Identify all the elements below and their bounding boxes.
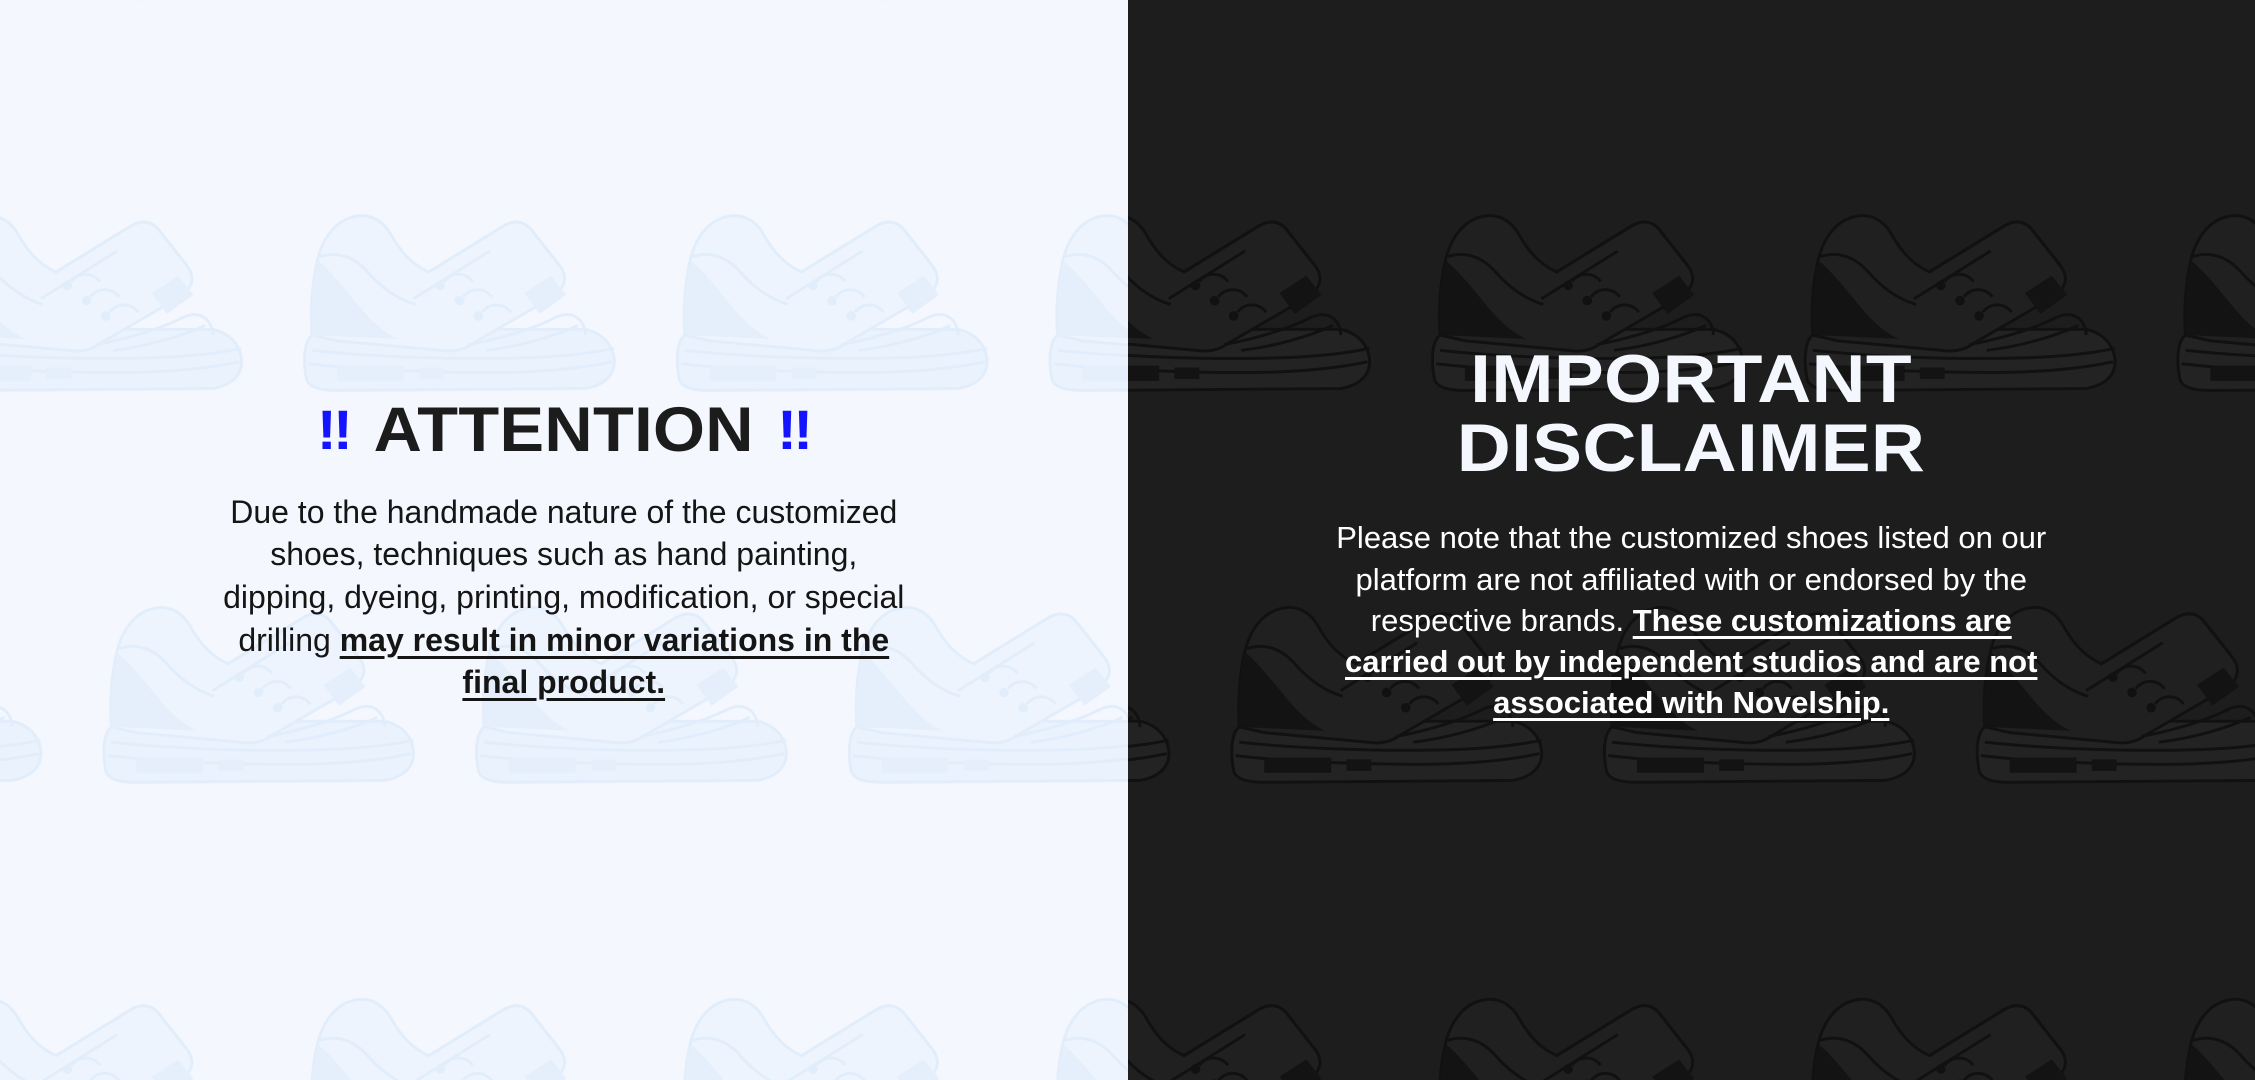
double-exclamation-icon-right: ‼ bbox=[777, 403, 810, 457]
attention-panel: ‼ATTENTION‼ Due to the handmade nature o… bbox=[0, 0, 1128, 1080]
attention-body-emphasis: may result in minor variations in the fi… bbox=[340, 622, 889, 701]
disclaimer-heading: IMPORTANT DISCLAIMER bbox=[1273, 345, 2109, 484]
double-exclamation-icon-left: ‼ bbox=[317, 403, 350, 457]
disclaimer-body: Please note that the customized shoes li… bbox=[1331, 517, 2051, 723]
attention-content: ‼ATTENTION‼ Due to the handmade nature o… bbox=[0, 400, 1128, 703]
disclaimer-panel: IMPORTANT DISCLAIMER Please note that th… bbox=[1128, 0, 2255, 1080]
split-layout: ‼ATTENTION‼ Due to the handmade nature o… bbox=[0, 0, 2255, 1080]
attention-body: Due to the handmade nature of the custom… bbox=[214, 491, 914, 704]
attention-heading-text: ATTENTION bbox=[374, 395, 754, 465]
attention-heading: ‼ATTENTION‼ bbox=[9, 400, 1119, 460]
disclaimer-heading-line2: DISCLAIMER bbox=[1457, 410, 1925, 486]
disclaimer-heading-line1: IMPORTANT bbox=[1470, 341, 1912, 417]
disclaimer-content: IMPORTANT DISCLAIMER Please note that th… bbox=[1128, 345, 2255, 724]
